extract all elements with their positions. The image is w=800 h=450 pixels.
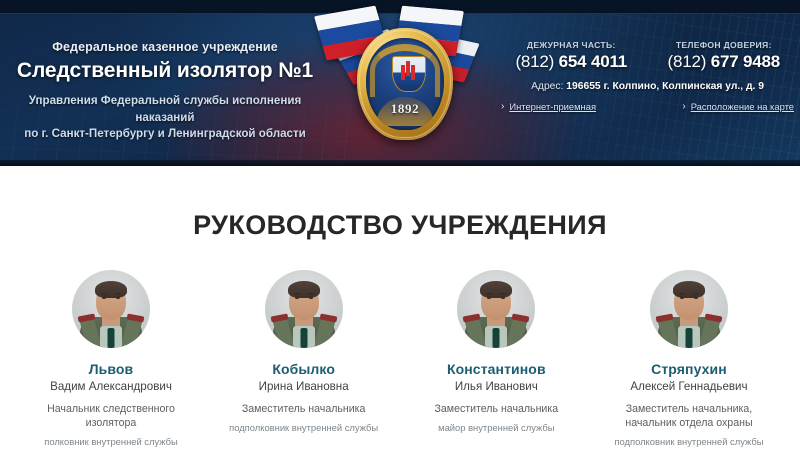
header-contacts: Дежурная часть: (812) 654 4011 Телефон д… bbox=[495, 40, 800, 112]
staff-rank: майор внутренней службы bbox=[407, 422, 585, 434]
link-location-map[interactable]: › Расположение на карте bbox=[682, 101, 794, 112]
link-internet-reception[interactable]: › Интернет-приемная bbox=[501, 101, 596, 112]
staff-first-name: Алексей Геннадьевич bbox=[600, 380, 778, 393]
phone-duty-area-code: (812) bbox=[515, 52, 554, 71]
phone-list: Дежурная часть: (812) 654 4011 Телефон д… bbox=[495, 40, 800, 72]
header-links: › Интернет-приемная › Расположение на ка… bbox=[495, 101, 800, 112]
staff-last-name[interactable]: Кобылко bbox=[215, 361, 393, 377]
chevron-right-icon: › bbox=[682, 102, 685, 112]
phone-duty-number[interactable]: (812) 654 4011 bbox=[495, 52, 648, 72]
staff-first-name: Вадим Александрович bbox=[22, 380, 200, 393]
link-internet-reception-label: Интернет-приемная bbox=[509, 101, 596, 112]
address-value: 196655 г. Колпино, Колпинская ул., д. 9 bbox=[566, 81, 764, 92]
staff-position: Начальник следственного изолятора bbox=[22, 402, 200, 430]
institution-name: Следственный изолятор №1 bbox=[0, 59, 330, 83]
phone-duty-label: Дежурная часть: bbox=[495, 40, 648, 50]
staff-list: Львов Вадим Александрович Начальник след… bbox=[0, 270, 800, 448]
staff-rank: полковник внутренней службы bbox=[22, 436, 200, 448]
address-label: Адрес: bbox=[531, 81, 563, 92]
staff-card: Константинов Илья Иванович Заместитель н… bbox=[407, 270, 585, 448]
page-root: Федеральное казенное учреждение Следстве… bbox=[0, 0, 800, 450]
phone-duty: Дежурная часть: (812) 654 4011 bbox=[495, 40, 648, 72]
staff-last-name[interactable]: Стряпухин bbox=[600, 361, 778, 377]
staff-last-name[interactable]: Константинов bbox=[407, 361, 585, 377]
staff-card: Стряпухин Алексей Геннадьевич Заместител… bbox=[600, 270, 778, 448]
shield-icon bbox=[392, 56, 426, 92]
staff-card: Львов Вадим Александрович Начальник след… bbox=[22, 270, 200, 448]
site-header: Федеральное казенное учреждение Следстве… bbox=[0, 0, 800, 166]
department-line-1: Управления Федеральной службы исполнения… bbox=[0, 93, 330, 126]
main-content: РУКОВОДСТВО УЧРЕЖДЕНИЯ Львов Вадим Алекс… bbox=[0, 166, 800, 450]
staff-rank: подполковник внутренней службы bbox=[600, 436, 778, 448]
institution-department: Управления Федеральной службы исполнения… bbox=[0, 93, 330, 142]
staff-card: Кобылко Ирина Ивановна Заместитель начал… bbox=[215, 270, 393, 448]
header-title-block: Федеральное казенное учреждение Следстве… bbox=[0, 40, 330, 143]
page-title: РУКОВОДСТВО УЧРЕЖДЕНИЯ bbox=[0, 210, 800, 241]
emblem-year: 1892 bbox=[366, 101, 444, 117]
phone-trust-label: Телефон доверия: bbox=[648, 40, 800, 50]
staff-last-name[interactable]: Львов bbox=[22, 361, 200, 377]
staff-rank: подполковник внутренней службы bbox=[215, 422, 393, 434]
emblem-with-flags: 1892 bbox=[310, 2, 500, 162]
phone-trust-area-code: (812) bbox=[667, 52, 706, 71]
emblem-inner-field: 1892 bbox=[366, 38, 444, 130]
fsin-emblem-icon: 1892 bbox=[357, 28, 453, 140]
phone-trust-local: 677 9488 bbox=[711, 52, 780, 71]
address-line: Адрес: 196655 г. Колпино, Колпинская ул.… bbox=[495, 81, 800, 92]
institution-type-label: Федеральное казенное учреждение bbox=[0, 40, 330, 55]
link-location-map-label: Расположение на карте bbox=[691, 101, 794, 112]
avatar bbox=[650, 270, 728, 348]
staff-first-name: Ирина Ивановна bbox=[215, 380, 393, 393]
phone-trust-number[interactable]: (812) 677 9488 bbox=[648, 52, 800, 72]
phone-trust: Телефон доверия: (812) 677 9488 bbox=[648, 40, 800, 72]
staff-position: Заместитель начальника, начальник отдела… bbox=[600, 402, 778, 430]
phone-duty-local: 654 4011 bbox=[559, 52, 627, 71]
staff-position: Заместитель начальника bbox=[215, 402, 393, 416]
avatar bbox=[265, 270, 343, 348]
chevron-right-icon: › bbox=[501, 102, 504, 112]
staff-position: Заместитель начальника bbox=[407, 402, 585, 416]
avatar bbox=[457, 270, 535, 348]
staff-first-name: Илья Иванович bbox=[407, 380, 585, 393]
department-line-2: по г. Санкт-Петербургу и Ленинградской о… bbox=[0, 126, 330, 142]
avatar bbox=[72, 270, 150, 348]
